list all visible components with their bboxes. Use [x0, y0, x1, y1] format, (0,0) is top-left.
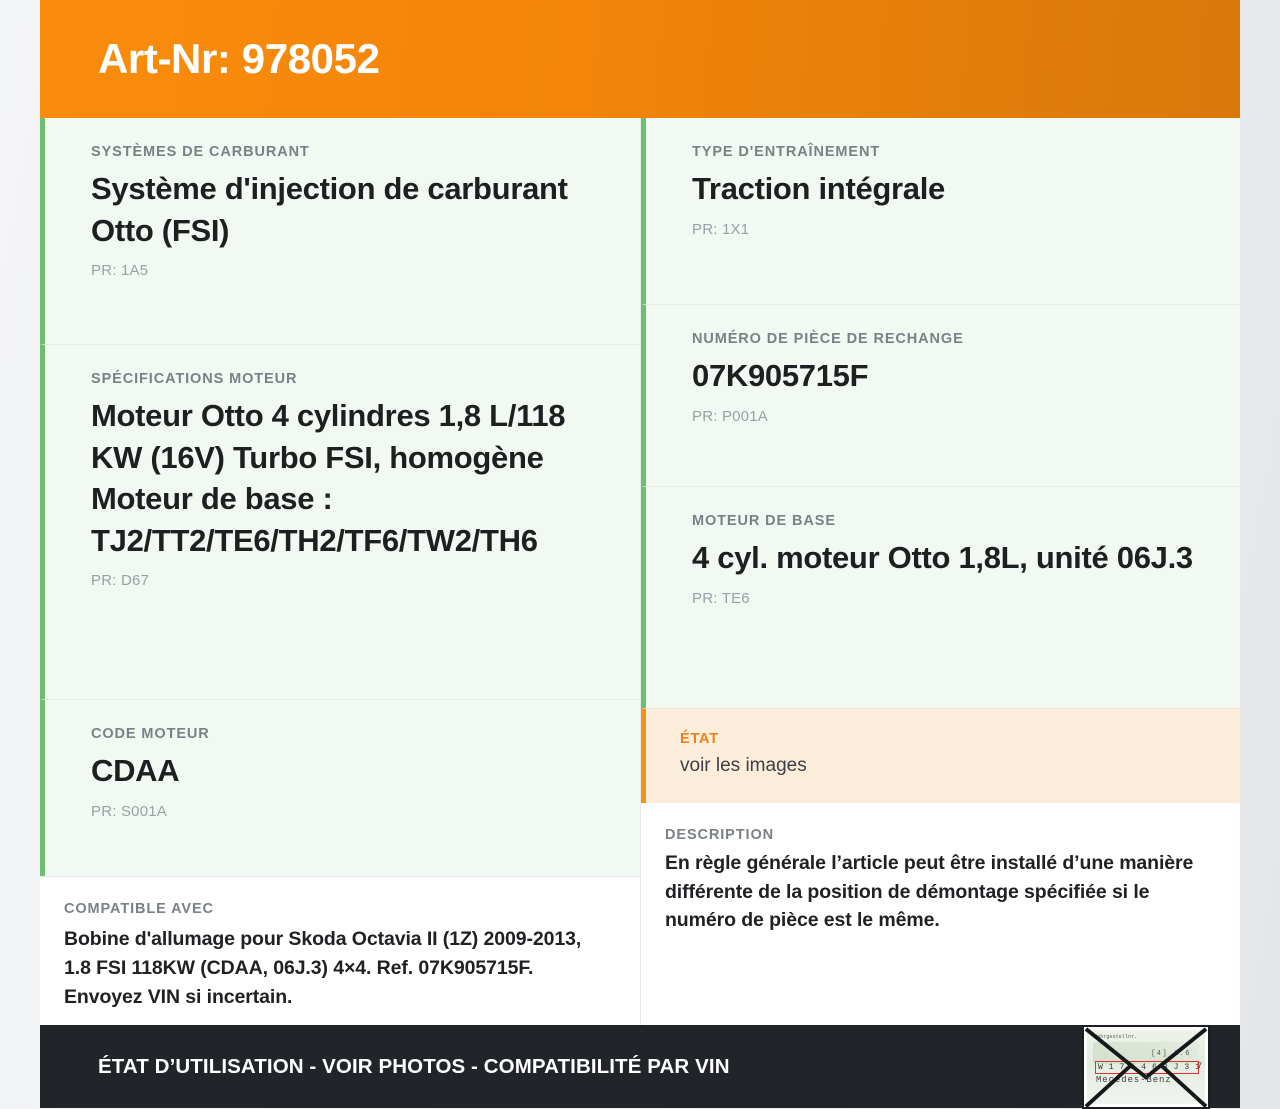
footer-banner-text: ÉTAT D’UTILISATION - VOIR PHOTOS - COMPA…: [98, 1055, 730, 1079]
product-detail-page: Art-Nr: 978052 Systèmes de carburant Sys…: [40, 0, 1240, 1108]
spec-label: Systèmes de carburant: [91, 144, 612, 160]
condition-value: voir les images: [680, 754, 1212, 779]
spec-body: Systèmes de carburant Système d'injectio…: [40, 118, 1240, 1025]
right-column: Type d'entraînement Traction intégrale P…: [640, 118, 1240, 1025]
compatible-with-label: Compatible avec: [64, 901, 610, 917]
spec-label: Spécifications moteur: [91, 371, 612, 387]
spec-pr-code: PR: P001A: [692, 408, 1212, 425]
spec-card-base-engine: Moteur de base 4 cyl. moteur Otto 1,8L, …: [641, 486, 1240, 708]
spec-label: Code moteur: [91, 726, 612, 742]
vin-document-thumbnail[interactable]: Fahrgestellnr. [4] A.6 W 1 7 1 4 6 3 J 3…: [1082, 1025, 1210, 1109]
spec-pr-code: PR: 1A5: [91, 262, 612, 279]
description-block: Description En règle générale l’article …: [641, 803, 1240, 1025]
condition-label: État: [680, 731, 1212, 747]
spec-value: Moteur Otto 4 cylindres 1,8 L/118 KW (16…: [91, 395, 612, 561]
spec-card-part-number: Numéro de pièce de rechange 07K905715F P…: [641, 304, 1240, 486]
compatible-with-block: Compatible avec Bobine d'allumage pour S…: [40, 876, 640, 1038]
compatible-with-text: Bobine d'allumage pour Skoda Octavia II …: [64, 925, 610, 1012]
spec-pr-code: PR: TE6: [692, 590, 1212, 607]
description-label: Description: [665, 827, 1210, 843]
spec-card-engine-code: Code moteur CDAA PR: S001A: [40, 699, 640, 876]
spec-card-drive-type: Type d'entraînement Traction intégrale P…: [641, 118, 1240, 304]
spec-label: Numéro de pièce de rechange: [692, 331, 1212, 347]
condition-card: État voir les images: [641, 708, 1240, 803]
spec-pr-code: PR: D67: [91, 572, 612, 589]
spec-value: 07K905715F: [692, 355, 1212, 397]
spec-value: 4 cyl. moteur Otto 1,8L, unité 06J.3: [692, 537, 1212, 579]
envelope-icon: [1084, 1027, 1208, 1108]
spec-value: Traction intégrale: [692, 168, 1212, 210]
spec-label: Moteur de base: [692, 513, 1212, 529]
spec-card-engine-specs: Spécifications moteur Moteur Otto 4 cyli…: [40, 344, 640, 699]
spec-pr-code: PR: 1X1: [692, 221, 1212, 238]
page-title: Art-Nr: 978052: [98, 38, 380, 80]
page-footer: ÉTAT D’UTILISATION - VOIR PHOTOS - COMPA…: [40, 1025, 1240, 1108]
spec-value: CDAA: [91, 750, 612, 792]
spec-label: Type d'entraînement: [692, 144, 1212, 160]
description-text: En règle générale l’article peut être in…: [665, 849, 1210, 936]
spec-card-fuel-system: Systèmes de carburant Système d'injectio…: [40, 118, 640, 344]
page-header: Art-Nr: 978052: [40, 0, 1240, 118]
spec-value: Système d'injection de carburant Otto (F…: [91, 168, 612, 251]
left-column: Systèmes de carburant Système d'injectio…: [40, 118, 640, 1025]
spec-pr-code: PR: S001A: [91, 803, 612, 820]
